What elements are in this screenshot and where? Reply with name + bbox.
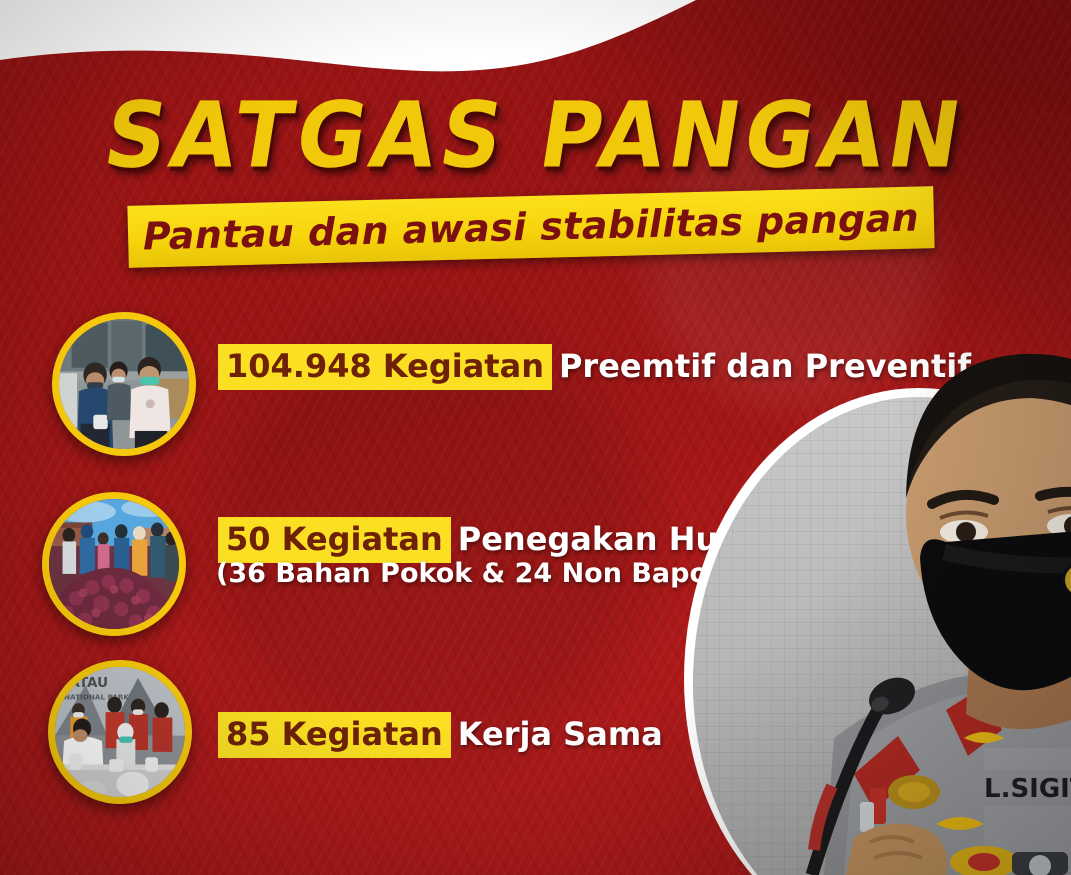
thumbnail-preemtif — [52, 312, 196, 456]
poster-title-wrap: SATGAS PANGAN — [0, 86, 1071, 184]
officer-photo: L.SIGIT.P PO — [684, 318, 1071, 875]
stat-sub-penegakan-hukum: (36 Bahan Pokok & 24 Non Bapok) — [216, 558, 738, 589]
svg-text:ATAU: ATAU — [69, 675, 108, 691]
stat-row-kerja-sama: 85 Kegiatan Kerja Sama — [218, 712, 663, 758]
stat-label-kerja-sama: Kerja Sama — [451, 718, 663, 750]
thumbnail-preemtif-image — [59, 319, 189, 449]
stat-count-penegakan-hukum: 50 Kegiatan — [218, 517, 451, 563]
svg-text:L.SIGIT.P: L.SIGIT.P — [984, 774, 1071, 804]
thumbnail-kerja-sama-image: ATAU NATIONAL PARK — [55, 667, 185, 797]
subtitle-text: Pantau dan awasi stabilitas pangan — [142, 196, 919, 259]
stat-count-preemtif: 104.948 Kegiatan — [218, 344, 552, 390]
top-wave-decoration — [0, 0, 700, 94]
poster-root: SATGAS PANGAN Pantau dan awasi stabilita… — [0, 0, 1071, 875]
subtitle-banner: Pantau dan awasi stabilitas pangan — [127, 186, 934, 268]
thumbnail-penegakan-hukum — [42, 492, 186, 636]
thumbnail-kerja-sama: ATAU NATIONAL PARK — [48, 660, 192, 804]
stat-count-kerja-sama: 85 Kegiatan — [218, 712, 451, 758]
poster-title: SATGAS PANGAN — [98, 82, 973, 188]
thumbnail-penegakan-hukum-image — [49, 499, 179, 629]
